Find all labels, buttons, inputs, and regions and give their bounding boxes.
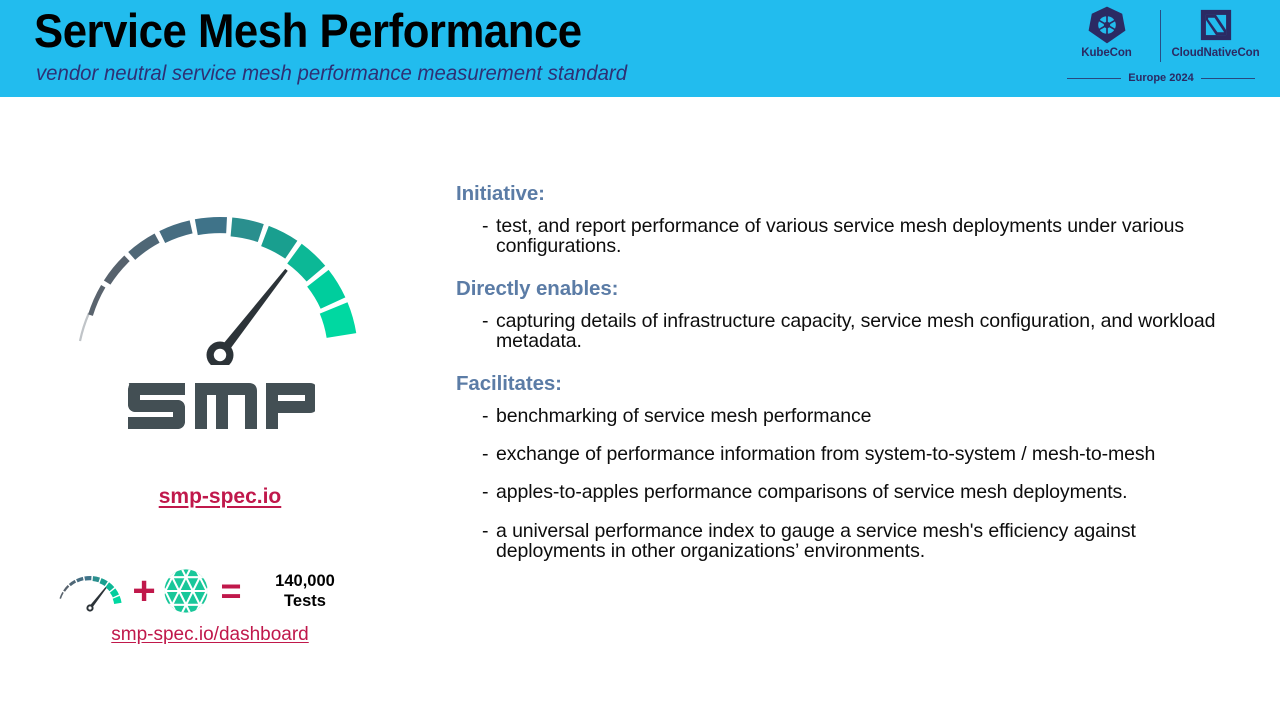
conference-year-label: Europe 2024 (1128, 72, 1193, 84)
bullet-text: test, and report performance of various … (496, 216, 1246, 257)
smp-brand-panel: smp-spec.io + (0, 100, 440, 720)
conference-logo-row: KubeCon CloudNativeCon (1052, 4, 1270, 69)
smp-spec-link[interactable]: smp-spec.io (159, 485, 282, 508)
cloudnativecon-block: CloudNativeCon (1161, 4, 1270, 59)
kubecon-label: KubeCon (1081, 47, 1131, 59)
section-heading: Initiative: (456, 183, 1246, 206)
bullet-item: -a universal performance index to gauge … (456, 521, 1246, 562)
bullet-list: -test, and report performance of various… (456, 216, 1246, 257)
mini-gauge-icon (55, 568, 125, 614)
bullet-list: -benchmarking of service mesh performanc… (456, 406, 1246, 561)
smp-wordmark (0, 375, 440, 437)
section-heading: Directly enables: (456, 278, 1246, 301)
content-section: Directly enables:-capturing details of i… (456, 278, 1246, 351)
bullet-item: -capturing details of infrastructure cap… (456, 311, 1246, 352)
bullet-text: benchmarking of service mesh performance (496, 406, 1246, 426)
plus-sign: + (125, 571, 163, 611)
conference-logo-divider (1160, 10, 1161, 62)
tests-count: 140,000 (253, 571, 357, 591)
smp-spec-link-container: smp-spec.io (0, 485, 440, 509)
smp-dashboard-link[interactable]: smp-spec.io/dashboard (111, 624, 309, 645)
bullet-marker: - (456, 444, 496, 464)
tests-result: 140,000 Tests (253, 571, 357, 611)
equals-sign: = (209, 573, 253, 609)
content-column: Initiative:-test, and report performance… (456, 183, 1246, 561)
page-title: Service Mesh Performance (34, 4, 582, 58)
section-heading: Facilitates: (456, 373, 1246, 396)
page-subtitle: vendor neutral service mesh performance … (36, 62, 627, 86)
year-rule-right (1201, 78, 1255, 79)
bullet-marker: - (456, 482, 496, 502)
bullet-marker: - (456, 216, 496, 236)
speedometer-gauge-icon (70, 205, 370, 365)
bullet-item: -test, and report performance of various… (456, 216, 1246, 257)
tests-formula-row: + (55, 562, 365, 620)
conference-logo: KubeCon CloudNativeCon Europe 2024 (1052, 4, 1270, 94)
content-section: Facilitates:-benchmarking of service mes… (456, 373, 1246, 561)
meshery-mesh-circle-icon (163, 568, 209, 614)
cloudnativecon-label: CloudNativeCon (1171, 47, 1259, 59)
cloudnativecon-square-icon (1198, 4, 1234, 46)
content-section: Initiative:-test, and report performance… (456, 183, 1246, 256)
bullet-text: apples-to-apples performance comparisons… (496, 482, 1246, 502)
dashboard-link-container: smp-spec.io/dashboard (0, 624, 420, 646)
bullet-marker: - (456, 406, 496, 426)
kubecon-block: KubeCon (1052, 4, 1161, 59)
bullet-item: -exchange of performance information fro… (456, 444, 1246, 464)
bullet-list: -capturing details of infrastructure cap… (456, 311, 1246, 352)
bullet-marker: - (456, 521, 496, 541)
bullet-text: capturing details of infrastructure capa… (496, 311, 1246, 352)
bullet-item: -benchmarking of service mesh performanc… (456, 406, 1246, 426)
conference-year-row: Europe 2024 (1052, 72, 1270, 84)
bullet-item: -apples-to-apples performance comparison… (456, 482, 1246, 502)
tests-label: Tests (253, 591, 357, 611)
bullet-text: exchange of performance information from… (496, 444, 1246, 464)
bullet-marker: - (456, 311, 496, 331)
kubernetes-helm-wheel-icon (1087, 4, 1127, 46)
bullet-text: a universal performance index to gauge a… (496, 521, 1246, 562)
year-rule-left (1067, 78, 1121, 79)
